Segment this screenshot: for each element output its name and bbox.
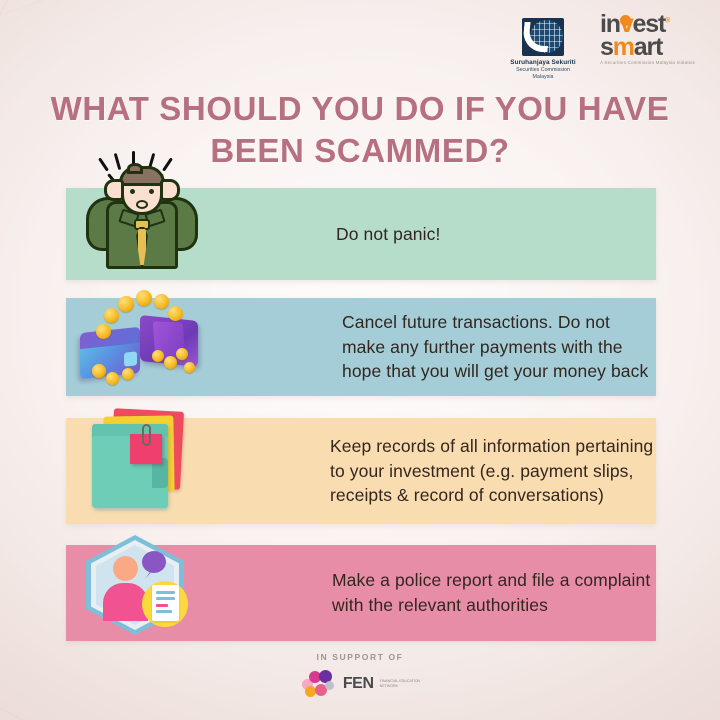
advice-card-2: Cancel future transactions. Do not make …	[66, 298, 656, 396]
sc-logo-line3: Malaysia	[497, 74, 589, 81]
person-report-hexagon-icon	[80, 529, 200, 641]
investsmart-word-invest: invest®	[600, 14, 706, 36]
securities-commission-malaysia-logo: Suruhanjaya Sekuriti Securities Commissi…	[497, 18, 589, 81]
header-logos: Suruhanjaya Sekuriti Securities Commissi…	[0, 8, 720, 86]
sc-globe-icon	[522, 18, 564, 56]
advice-card-2-text: Cancel future transactions. Do not make …	[342, 310, 656, 385]
panicked-man-icon	[80, 153, 204, 271]
advice-card-3-text: Keep records of all information pertaini…	[330, 434, 656, 509]
investsmart-word-smart: smart	[600, 36, 706, 59]
fen-subtitle: FINANCIAL EDUCATION NETWORK	[380, 679, 421, 690]
sc-logo-line2: Securities Commission	[497, 67, 589, 74]
advice-card-1: Do not panic!	[66, 188, 656, 280]
infographic-page: Suruhanjaya Sekuriti Securities Commissi…	[0, 0, 720, 720]
investsmart-tagline: A Securities Commission Malaysia Initiat…	[600, 60, 706, 65]
folders-documents-icon	[86, 406, 204, 524]
in-support-of-label: IN SUPPORT OF	[0, 652, 720, 662]
advice-card-3: Keep records of all information pertaini…	[66, 418, 656, 524]
wallets-coins-transfer-icon	[76, 286, 206, 396]
advice-card-4-text: Make a police report and file a complain…	[332, 568, 656, 618]
footer: IN SUPPORT OF FEN FINANCIAL EDUCATION NE…	[0, 652, 720, 699]
investsmart-logo: invest® smart A Securities Commission Ma…	[600, 14, 706, 65]
sc-logo-line1: Suruhanjaya Sekuriti	[497, 59, 589, 67]
page-title-line1: WHAT SHOULD YOU DO IF YOU HAVE	[0, 88, 720, 130]
advice-card-4: Make a police report and file a complain…	[66, 545, 656, 641]
fen-wordmark: FEN	[343, 675, 374, 693]
advice-card-1-text: Do not panic!	[336, 222, 440, 247]
fen-logo: FEN FINANCIAL EDUCATION NETWORK	[0, 669, 720, 699]
fen-circles-icon	[300, 669, 340, 699]
